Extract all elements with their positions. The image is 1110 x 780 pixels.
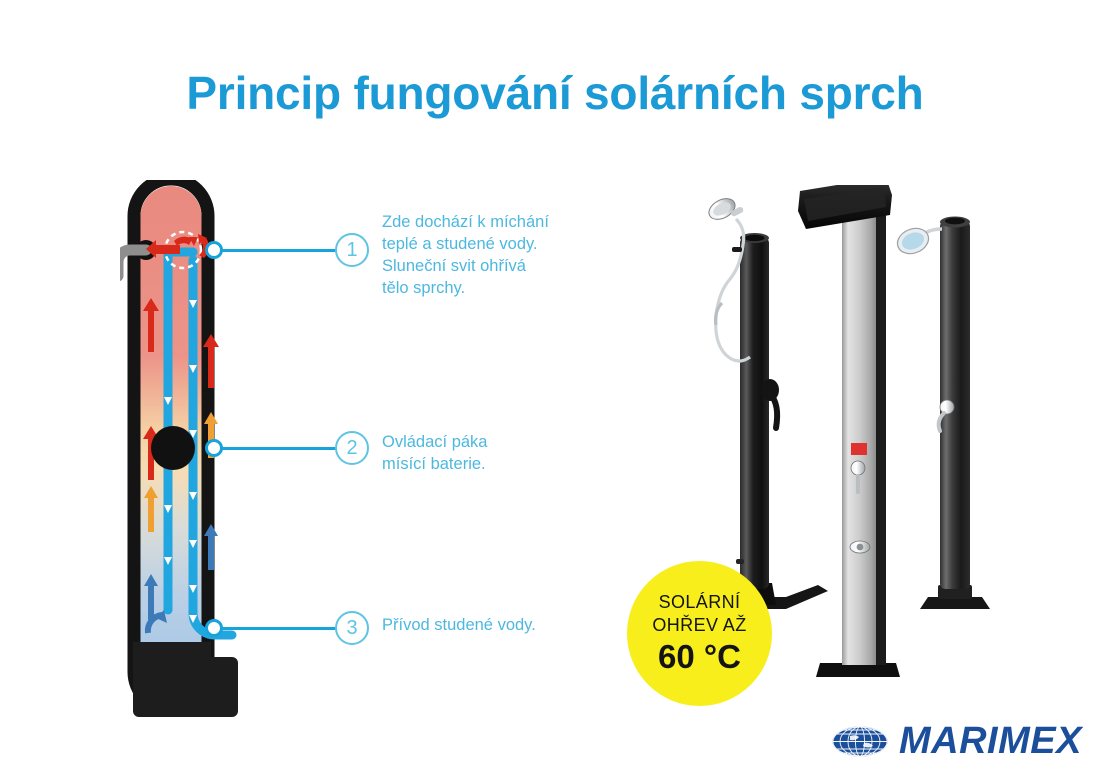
- infographic-canvas: Princip fungování solárních sprch: [0, 0, 1110, 780]
- product-1-hose-bracket: [732, 247, 742, 252]
- page-title: Princip fungování solárních sprch: [0, 66, 1110, 120]
- marimex-logo: MARIMEX: [832, 722, 1082, 760]
- product-3-mixer-knob: [940, 400, 954, 414]
- product-2-mixer-lever: [856, 474, 860, 494]
- badge-temperature: 60 °C: [658, 638, 741, 676]
- callout-3-number[interactable]: 3: [335, 611, 369, 645]
- logo-wordmark: MARIMEX: [899, 722, 1082, 760]
- solar-shower-diagram: 1 Zde dochází k míchání teplé a studené …: [120, 180, 620, 725]
- callout-2-text: Ovládací páka mísící baterie.: [382, 431, 612, 475]
- badge-line-1: SOLÁRNÍ: [659, 591, 741, 614]
- product-1-black-round-shower: [705, 194, 828, 609]
- product-2-silver-panel-shower: [798, 185, 900, 677]
- solar-heat-badge: SOLÁRNÍ OHŘEV AŽ 60 °C: [627, 561, 772, 706]
- product-2-red-label: [851, 443, 867, 455]
- product-1-handheld-head: [705, 194, 744, 223]
- globe-icon: [832, 726, 888, 757]
- shower-base-neck: [133, 642, 211, 668]
- product-2-panel-edge: [876, 199, 886, 665]
- callout-1-text: Zde dochází k míchání teplé a studené vo…: [382, 211, 612, 299]
- product-2-panel: [842, 199, 876, 665]
- callout-1-line: [221, 249, 338, 252]
- product-3-dark-round-shower: [894, 217, 990, 610]
- product-2-base-plate: [816, 663, 900, 677]
- product-3-top-inner: [945, 218, 965, 225]
- mixing-lever-knob: [151, 426, 195, 470]
- callout-3-text: Přívod studené vody.: [382, 614, 612, 636]
- badge-line-2: OHŘEV AŽ: [652, 614, 746, 637]
- callout-3-line: [221, 627, 338, 630]
- product-2-mixer-knob: [851, 461, 865, 475]
- product-2-outlet-hole: [857, 544, 864, 551]
- callout-2-line: [221, 447, 338, 450]
- callout-1-number[interactable]: 1: [335, 233, 369, 267]
- product-1-tube: [740, 237, 769, 589]
- callout-2-number[interactable]: 2: [335, 431, 369, 465]
- product-1-top-inner: [745, 235, 765, 241]
- product-1-drain-fitting: [736, 559, 744, 564]
- product-1-lever-handle: [770, 394, 777, 428]
